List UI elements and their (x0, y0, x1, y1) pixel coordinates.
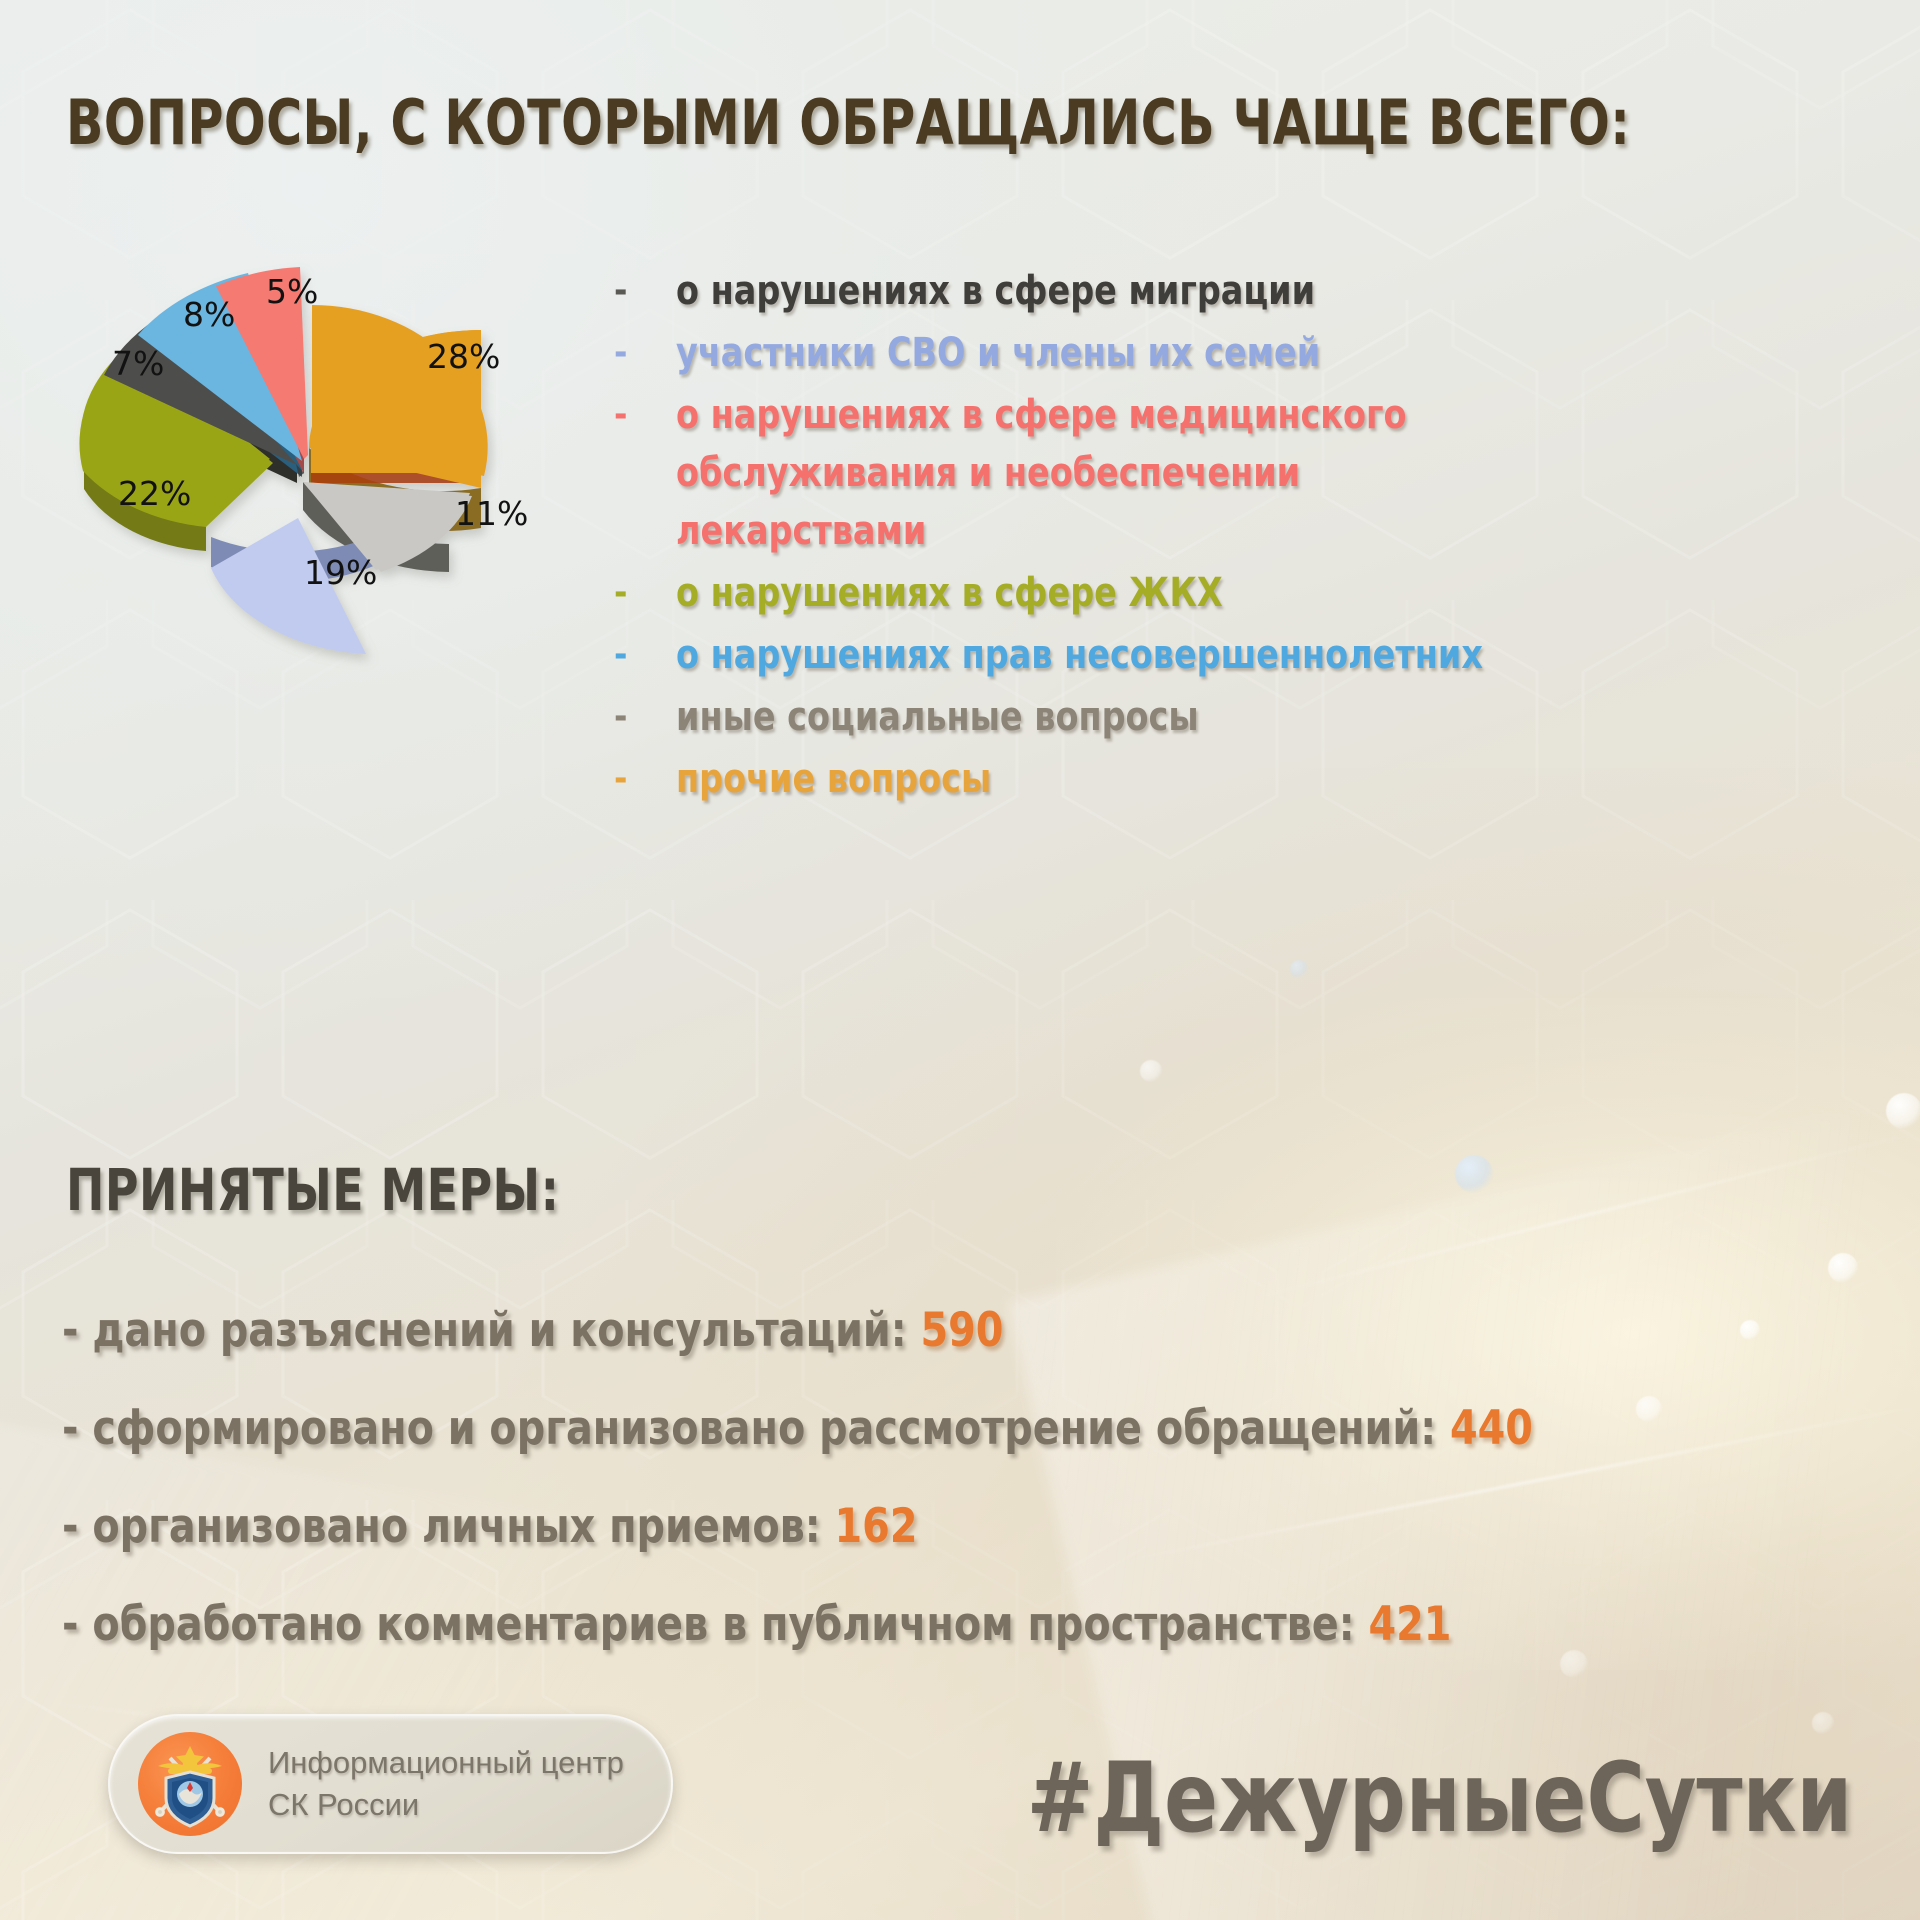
pie-chart-svg (70, 245, 590, 675)
legend-label-2: о нарушениях в сфере медицинского обслуж… (676, 386, 1406, 560)
measures-list: - дано разъяснений и консультаций: 590- … (62, 1282, 1892, 1674)
bokeh-light-2 (1455, 1155, 1493, 1193)
legend-dash-1: - (608, 324, 676, 382)
bokeh-light-3 (1828, 1253, 1858, 1283)
pie-label-0: 5% (266, 272, 318, 311)
measure-label-1: - сформировано и организовано рассмотрен… (62, 1401, 1450, 1456)
legend-label-6: прочие вопросы (676, 750, 991, 808)
legend-item-4: -о нарушениях прав несовершеннолетних (608, 626, 1898, 684)
measure-label-2: - организовано личных приемов: (62, 1499, 835, 1554)
org-badge-line1: Информационный центр (268, 1742, 624, 1784)
pie-label-4: 19% (304, 553, 377, 592)
legend-item-0: -о нарушениях в сфере миграции (608, 262, 1898, 320)
measure-label-0: - дано разъяснений и консультаций: (62, 1303, 920, 1358)
pie-chart: 5%8%7%22%19%11%28% (70, 245, 590, 675)
emblem-svg (138, 1732, 242, 1836)
legend-item-2: -о нарушениях в сфере медицинского обслу… (608, 386, 1898, 560)
pie-slice-orange-top (312, 305, 488, 476)
bokeh-light-9 (1812, 1712, 1834, 1734)
legend-item-3: -о нарушениях в сфере ЖКХ (608, 564, 1898, 622)
legend-dash-4: - (608, 626, 676, 684)
sk-rossii-emblem-icon (138, 1732, 242, 1836)
legend-label-1: участники СВО и члены их семей (676, 324, 1320, 382)
measure-value-3: 421 (1368, 1597, 1451, 1652)
legend-label-5: иные социальные вопросы (676, 688, 1199, 746)
measure-value-1: 440 (1450, 1401, 1533, 1456)
measure-row-3: - обработано комментариев в публичном пр… (62, 1576, 1782, 1674)
legend-label-3: о нарушениях в сфере ЖКХ (676, 564, 1223, 622)
measure-row-2: - организовано личных приемов: 162 (62, 1478, 1782, 1576)
measures-title: ПРИНЯТЫЕ МЕРЫ: (66, 1156, 559, 1224)
org-badge-text: Информационный центр СК России (268, 1742, 624, 1826)
legend-item-6: -прочие вопросы (608, 750, 1898, 808)
pie-label-5: 11% (455, 494, 528, 533)
measure-value-0: 590 (920, 1303, 1003, 1358)
org-badge-line2: СК России (268, 1784, 624, 1826)
pie-label-6: 28% (427, 337, 500, 376)
legend-label-0: о нарушениях в сфере миграции (676, 262, 1315, 320)
chart-legend: -о нарушениях в сфере миграции-участники… (608, 262, 1898, 812)
measure-row-1: - сформировано и организовано рассмотрен… (62, 1380, 1782, 1478)
legend-item-5: -иные социальные вопросы (608, 688, 1898, 746)
pie-label-2: 7% (112, 344, 164, 383)
legend-dash-2: - (608, 386, 676, 444)
hashtag: #ДежурныеСутки (1027, 1742, 1852, 1854)
page-title: ВОПРОСЫ, С КОТОРЫМИ ОБРАЩАЛИСЬ ЧАЩЕ ВСЕГ… (66, 86, 1630, 159)
legend-dash-5: - (608, 688, 676, 746)
measure-value-2: 162 (835, 1499, 918, 1554)
legend-item-1: -участники СВО и члены их семей (608, 324, 1898, 382)
legend-label-4: о нарушениях прав несовершеннолетних (676, 626, 1483, 684)
bokeh-light-1 (1886, 1093, 1920, 1129)
bokeh-light-6 (1140, 1060, 1162, 1082)
org-badge[interactable]: Информационный центр СК России (108, 1714, 673, 1854)
pie-label-1: 8% (183, 295, 235, 334)
legend-dash-3: - (608, 564, 676, 622)
measure-row-0: - дано разъяснений и консультаций: 590 (62, 1282, 1782, 1380)
legend-dash-6: - (608, 750, 676, 808)
bokeh-light-7 (1290, 960, 1308, 978)
measure-label-3: - обработано комментариев в публичном пр… (62, 1597, 1368, 1652)
legend-dash-0: - (608, 262, 676, 320)
pie-label-3: 22% (118, 474, 191, 513)
